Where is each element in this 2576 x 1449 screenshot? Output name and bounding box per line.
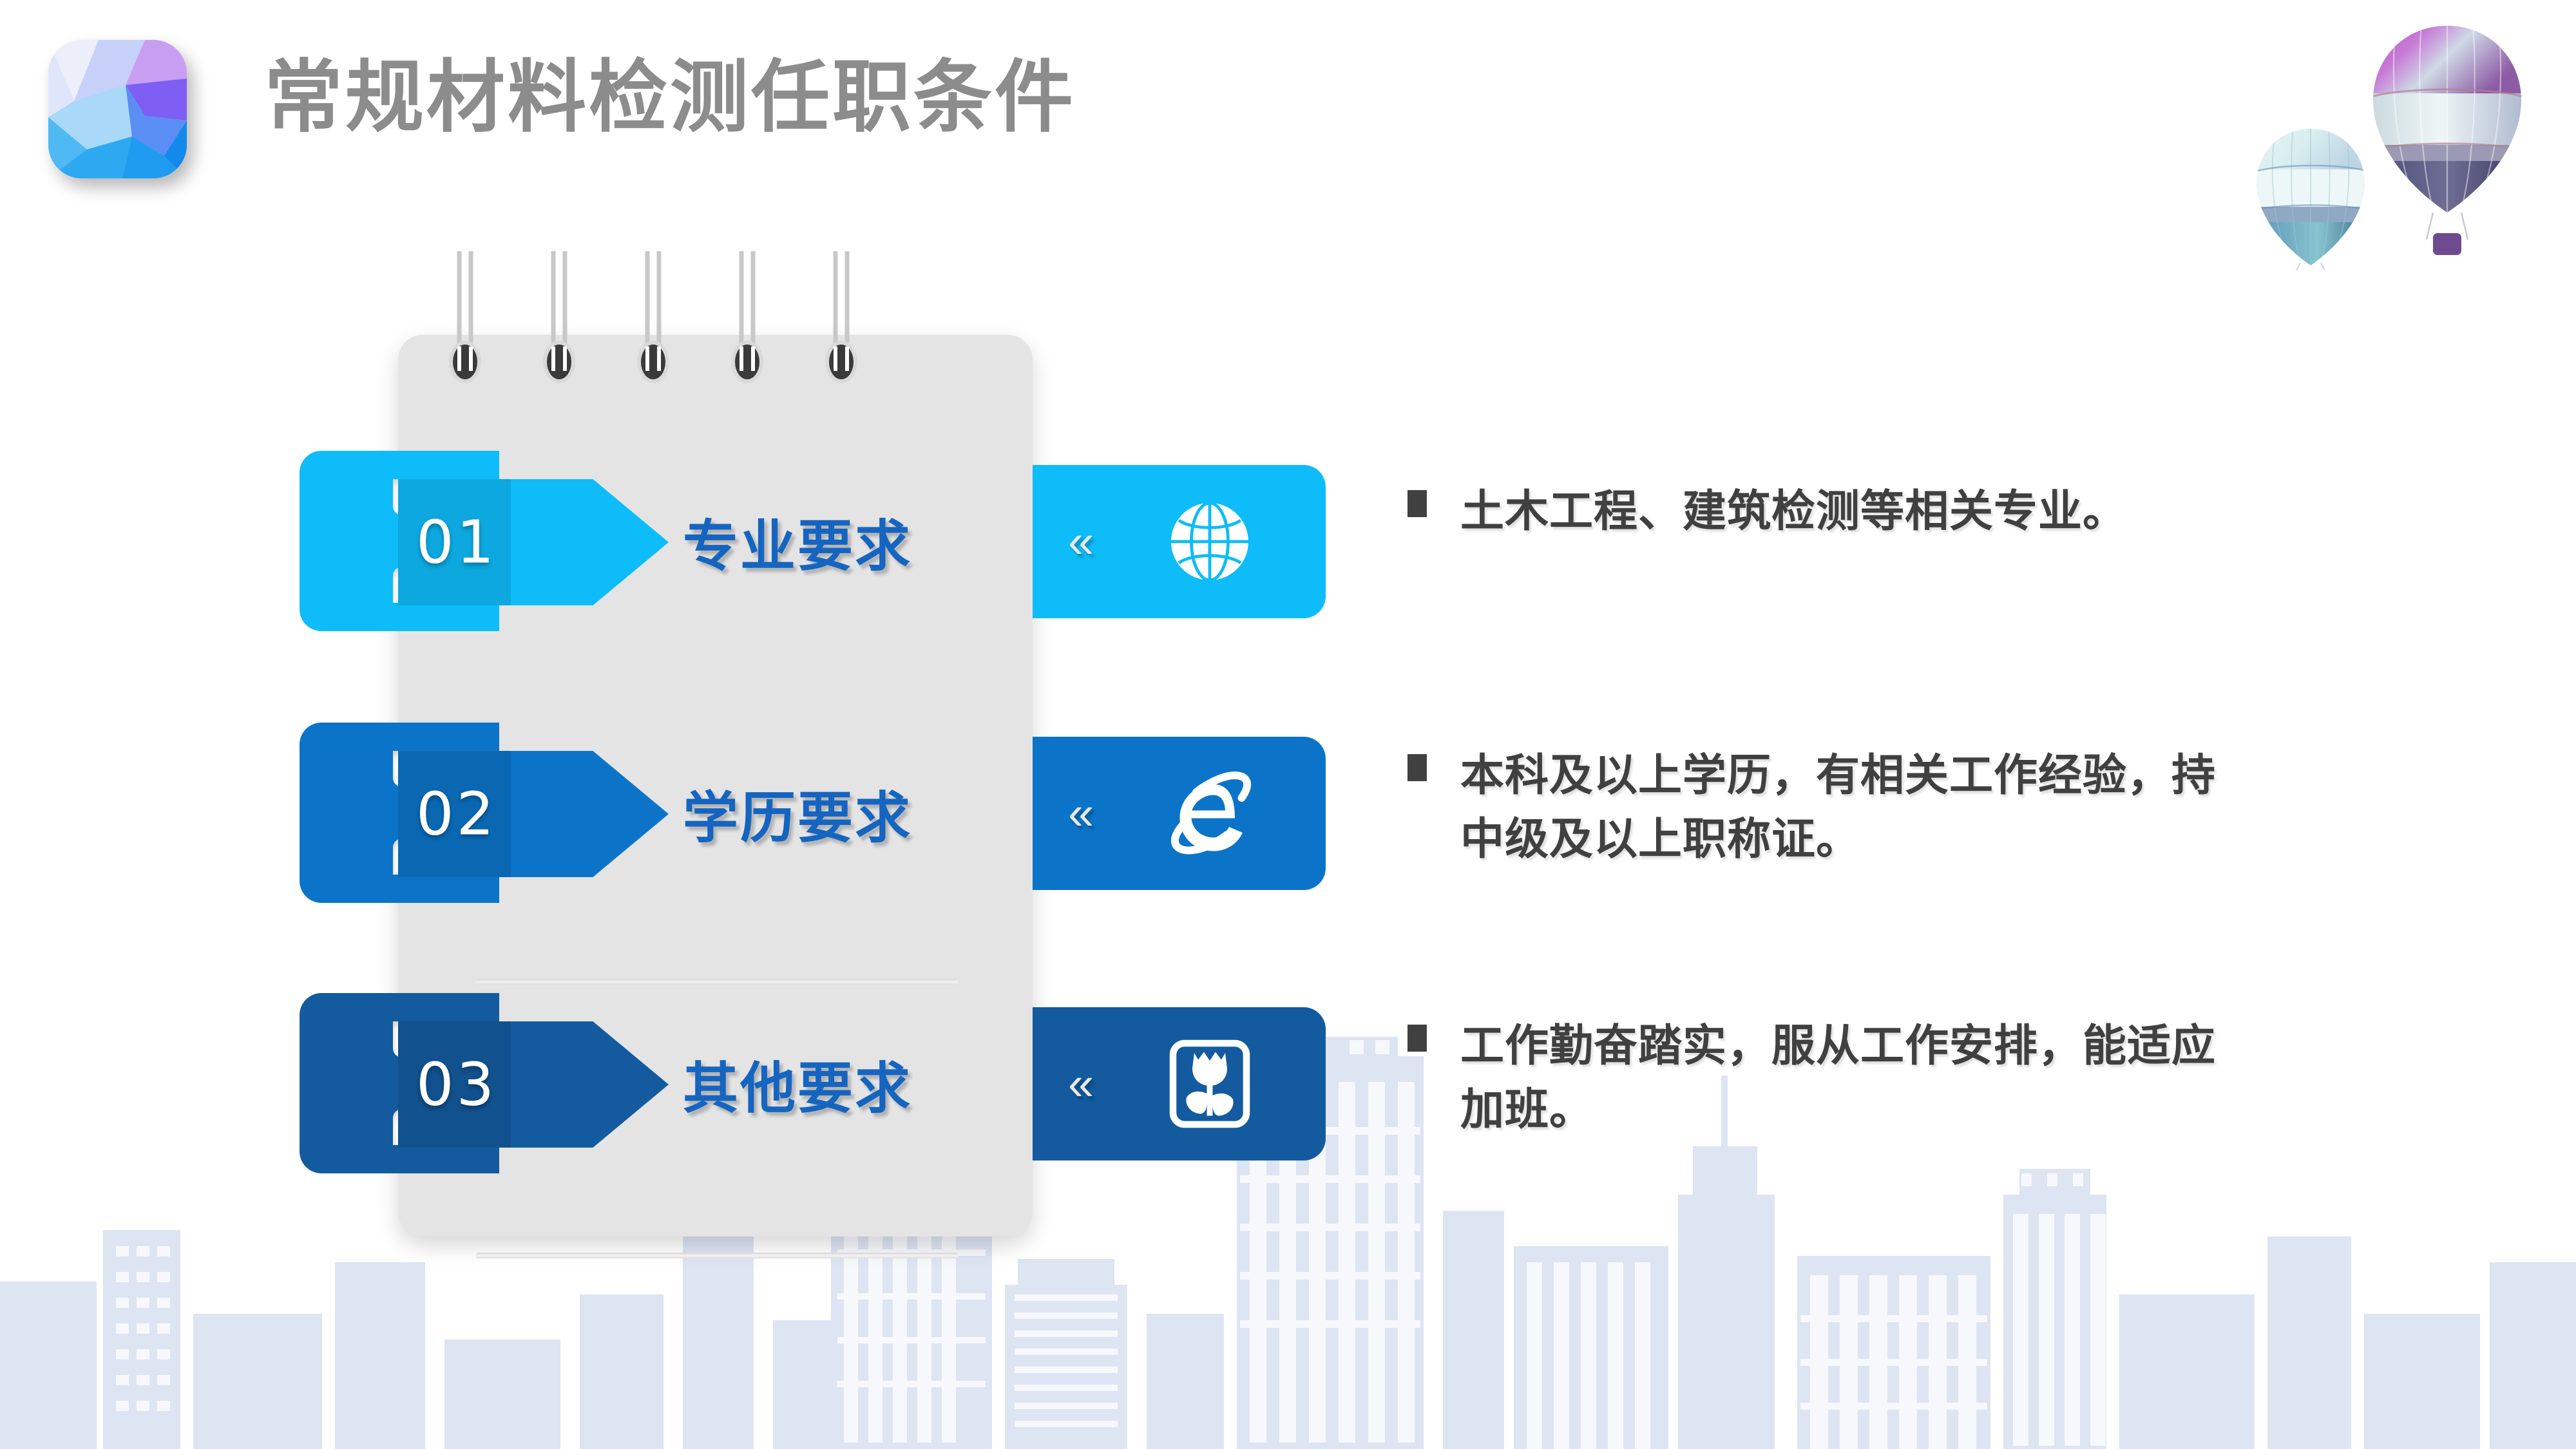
bullet-text: 土木工程、建筑检测等相关专业。	[1460, 480, 2245, 544]
bullet-item: 本科及以上学历，有相关工作经验，持中级及以上职称证。	[1407, 744, 2245, 871]
double-chevron-left-icon: «	[1068, 790, 1094, 837]
bullet-text: 本科及以上学历，有相关工作经验，持中级及以上职称证。	[1460, 744, 2245, 871]
notepad-divider	[475, 979, 959, 985]
bullet-square-icon	[1407, 1025, 1427, 1052]
notepad-divider	[475, 1253, 959, 1258]
spiral-ring-icon	[635, 251, 671, 406]
tulip-picture-icon	[1161, 1036, 1258, 1132]
page-title: 常规材料检测任职条件	[264, 50, 1076, 144]
app-logo-gradient-icon	[48, 40, 187, 178]
row-number-plate: 01	[398, 479, 669, 605]
row-number-plate: 03	[398, 1021, 669, 1148]
row-icon-panel[interactable]: «	[1033, 1007, 1326, 1160]
bullet-item: 工作勤奋踏实，服从工作安排，能适应加班。	[1407, 1014, 2245, 1141]
bullet-square-icon	[1407, 490, 1427, 517]
bullet-square-icon	[1407, 754, 1427, 781]
requirement-row[interactable]: 01 专业要求 «	[0, 451, 1327, 631]
row-label: 其他要求	[683, 1043, 912, 1124]
row-icon-panel[interactable]: «	[1033, 737, 1326, 890]
bullet-item: 土木工程、建筑检测等相关专业。	[1407, 480, 2245, 544]
internet-explorer-e-icon	[1161, 765, 1258, 862]
double-chevron-left-icon: «	[1068, 1061, 1094, 1107]
double-chevron-left-icon: «	[1068, 518, 1094, 565]
bullet-text: 工作勤奋踏实，服从工作安排，能适应加班。	[1460, 1014, 2245, 1141]
page-header: 常规材料检测任职条件	[0, 0, 2576, 206]
row-number: 02	[416, 780, 497, 849]
row-number: 03	[416, 1050, 497, 1119]
spiral-ring-icon	[541, 251, 577, 406]
globe-icon	[1161, 493, 1258, 590]
spiral-ring-icon	[729, 251, 765, 406]
requirement-row[interactable]: 03 其他要求 «	[0, 993, 1327, 1173]
requirement-row[interactable]: 02 学历要求 «	[0, 723, 1327, 903]
spiral-ring-icon	[447, 251, 483, 406]
row-label: 专业要求	[683, 501, 912, 582]
row-icon-panel[interactable]: «	[1033, 465, 1326, 618]
row-number-plate: 02	[398, 751, 669, 877]
row-label: 学历要求	[683, 773, 912, 853]
spiral-ring-icon	[823, 251, 859, 406]
row-number: 01	[416, 508, 497, 577]
